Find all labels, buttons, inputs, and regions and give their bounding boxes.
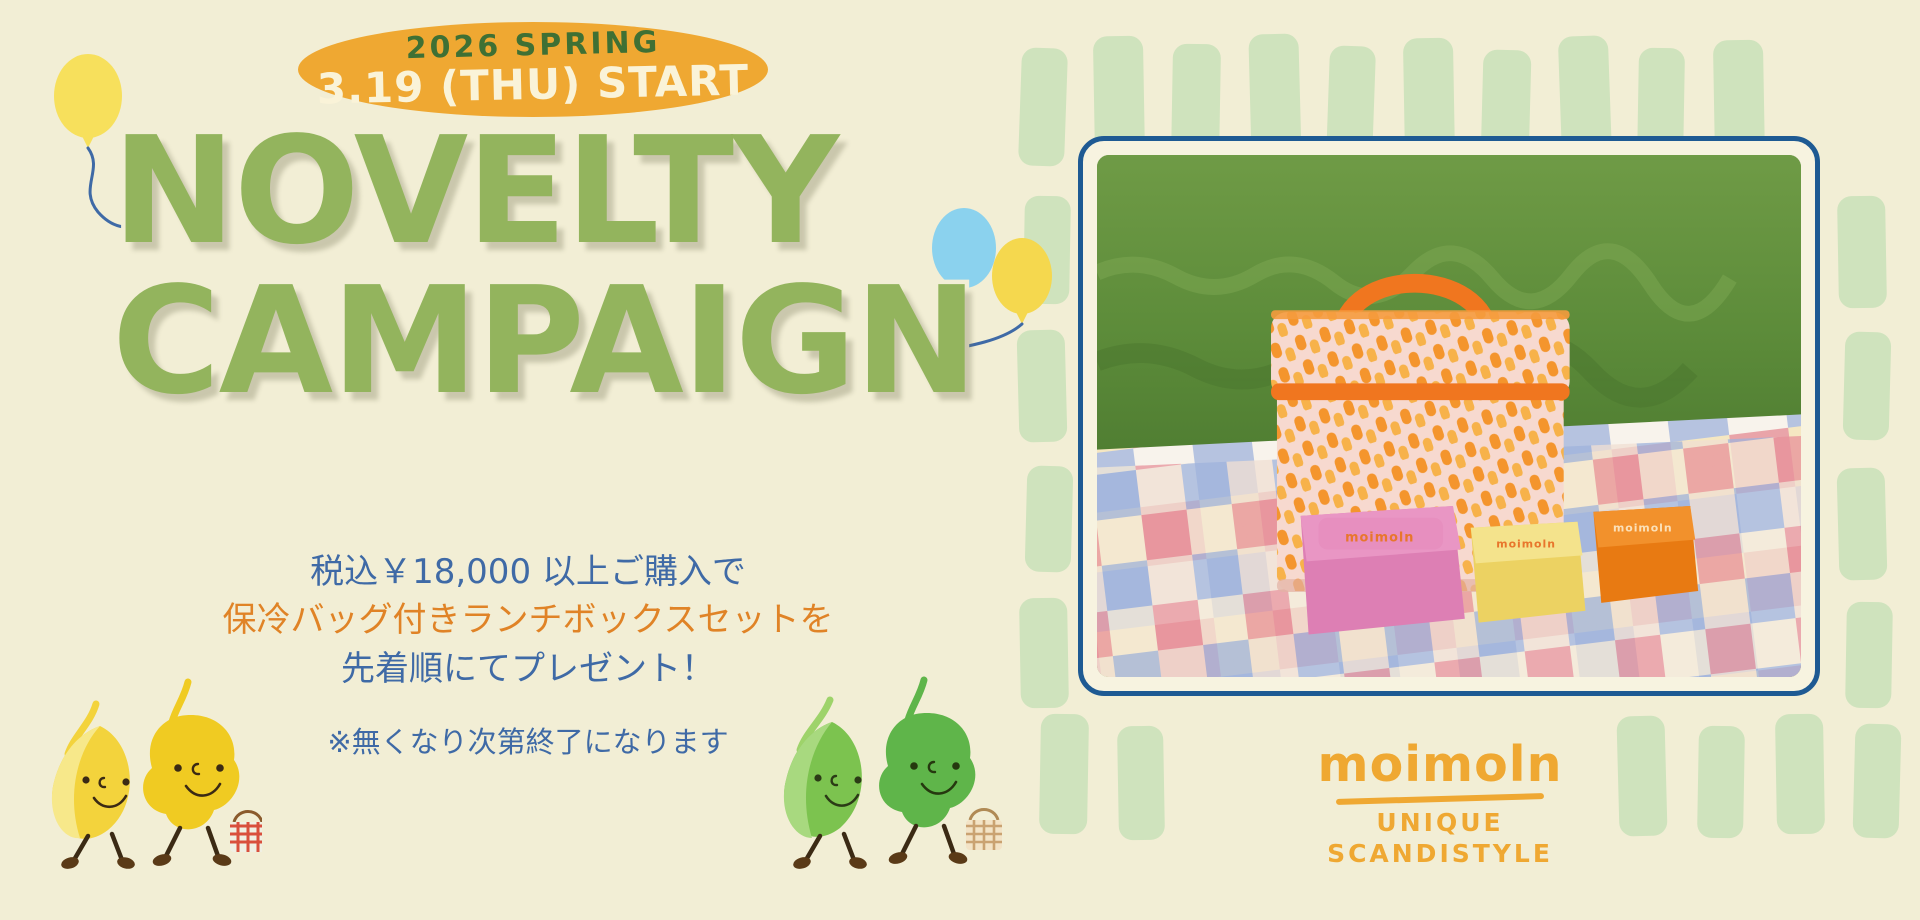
copy-line-1: 税込￥18,000 以上ご購入で: [108, 548, 948, 596]
brand-tagline-line-2: SCANDISTYLE: [1290, 839, 1590, 870]
product-photo: moimoln moimoln moimoln: [1097, 155, 1801, 677]
svg-text:moimoln: moimoln: [1345, 531, 1414, 546]
date-badge: 2026 SPRING 3.19 (THU) START: [298, 22, 768, 117]
brand-name: moimoln: [1290, 740, 1590, 789]
brand-logo: moimoln UNIQUE SCANDISTYLE: [1290, 740, 1590, 869]
brush-stroke: [1843, 331, 1892, 440]
brush-stroke: [1039, 714, 1089, 835]
headline-line-2: CAMPAIGN: [112, 270, 972, 414]
logo-underline: [1336, 793, 1544, 805]
brush-stroke: [1697, 726, 1745, 839]
svg-text:moimoln: moimoln: [1496, 538, 1556, 551]
brush-stroke: [1025, 465, 1074, 572]
svg-text:moimoln: moimoln: [1613, 522, 1673, 535]
brush-stroke: [1019, 598, 1069, 709]
brush-stroke: [1775, 714, 1825, 835]
brush-stroke: [1018, 47, 1068, 167]
brush-stroke: [1853, 723, 1902, 838]
lunch-box-orange: moimoln: [1593, 506, 1698, 603]
brush-stroke: [1837, 196, 1887, 309]
product-photo-card: moimoln moimoln moimoln: [1078, 136, 1820, 696]
copy-line-2: 保冷バッグ付きランチボックスセットを: [108, 596, 948, 644]
yellow-cloud-character: [122, 676, 262, 872]
brush-stroke: [1117, 726, 1165, 841]
picnic-basket-icon: [230, 812, 262, 853]
headline-line-1: NOVELTY: [112, 120, 972, 264]
brand-tagline-line-1: UNIQUE: [1290, 808, 1590, 839]
green-cloud-character: [856, 674, 1006, 872]
brush-stroke: [1837, 467, 1888, 580]
brush-stroke: [1845, 602, 1893, 709]
page-title: NOVELTY CAMPAIGN: [112, 120, 972, 413]
product-photo-illustration: moimoln moimoln moimoln: [1097, 155, 1801, 677]
lunch-box-yellow: moimoln: [1471, 522, 1586, 623]
brush-stroke: [1616, 715, 1667, 836]
lunch-box-pink: moimoln: [1301, 506, 1465, 635]
picnic-basket-icon: [966, 810, 1002, 851]
